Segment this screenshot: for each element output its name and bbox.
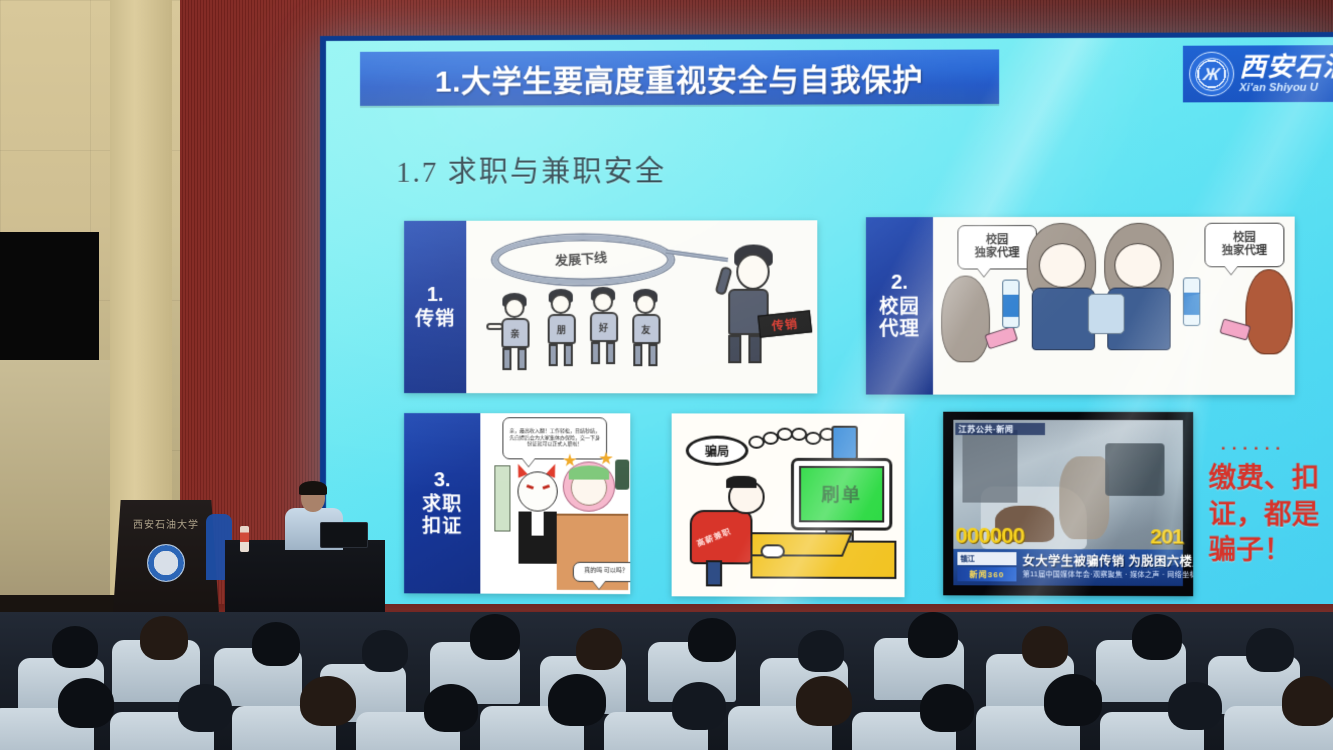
panel-order-brushing-scam: 骗局 刷单: [672, 413, 905, 597]
callout-line-2: 证，都是: [1209, 497, 1333, 533]
projection-screen: 1.大学生要高度重视安全与自我保护 Ж 西安石油 Xi'an Shiyou U …: [320, 32, 1333, 618]
bubble-left-line2: 独家代理: [975, 247, 1020, 260]
bubble-right-line2: 独家代理: [1222, 245, 1267, 258]
news-overlay-right: 201: [1150, 525, 1183, 549]
agent-dress-1: [1032, 288, 1095, 351]
rope: [666, 249, 729, 262]
panel-1-caption: 传销: [415, 309, 455, 330]
university-logo: Ж 西安石油 Xi'an Shiyou U: [1183, 45, 1333, 102]
callout-warning-text: 缴费、扣 证，都是 骗子！: [1209, 461, 1333, 570]
panel-1-label: 1. 传销: [404, 221, 466, 393]
panel-3-number: 3.: [434, 469, 451, 491]
victim-hair: [726, 476, 756, 488]
news-subline: 第11届中国媒体年会·观察聚焦 · 媒体之声 · 网络坐标: [1023, 569, 1180, 580]
panel-news-clip: 江苏公共·新闻 000000 201 镇江 新闻360 女大学生被骗传销 为脱困…: [943, 412, 1193, 596]
audience-head: [252, 622, 300, 666]
slide-subtitle: 1.7 求职与兼职安全: [396, 148, 666, 191]
audience-head: [576, 628, 622, 670]
panel-3-label: 3. 求职 扣证: [404, 413, 480, 593]
presenter-hair: [299, 481, 327, 495]
audience-head: [424, 684, 478, 732]
panel-2-label: 2. 校园 代理: [866, 217, 933, 394]
panel-1-number: 1.: [427, 284, 444, 306]
lectern: 西安石油大学: [112, 500, 220, 628]
slide-title-bar: 1.大学生要高度重视安全与自我保护: [360, 49, 999, 105]
audience-head: [52, 626, 98, 668]
student-reply-bubble: 真的吗 可以吗？: [573, 562, 630, 582]
panel-3-artwork: 亲，最高收入翻！工作轻松，日结秒结，先白嫖后会为大家集体办保险，交一下身份证就可…: [480, 413, 630, 594]
seal-mark: Ж: [1202, 65, 1221, 82]
bubble-left-line1: 校园: [986, 234, 1008, 247]
audience-area: [0, 612, 1333, 750]
recruiting-sign: [494, 465, 510, 531]
shirt-label-3: 好: [599, 321, 608, 334]
audience-head: [548, 674, 606, 726]
audience-head: [470, 614, 520, 660]
news-location-chip: 镇江: [957, 552, 1016, 565]
monitor-screen: 刷单: [799, 466, 884, 523]
water-bottle: [240, 526, 249, 552]
wall-dark-recess: [0, 232, 99, 360]
panel-2-number: 2.: [891, 272, 908, 295]
lectern-seal-icon: [147, 544, 185, 582]
university-seal-icon: Ж: [1189, 52, 1234, 97]
university-name-en: Xi'an Shiyou U: [1239, 83, 1333, 95]
callout-line-3: 骗子！: [1209, 533, 1333, 570]
student-figure-right: [1245, 269, 1292, 354]
audience-head: [140, 616, 188, 660]
student-figure-left: [941, 276, 990, 363]
audience-head: [1132, 614, 1182, 660]
callout-line-1: 缴费、扣: [1209, 461, 1333, 497]
panel-campus-agent: 2. 校园 代理 校园 独家代理 校园 独家代理: [866, 217, 1295, 395]
audience-head: [58, 678, 114, 728]
audience-head: [688, 618, 736, 662]
pyramid-banner: 传销: [758, 310, 813, 337]
bottle-1: [1002, 280, 1019, 328]
agent-face-2: [1114, 243, 1161, 288]
lasso-label: 发展下线: [554, 247, 608, 270]
trap-loop: 骗局: [686, 436, 749, 466]
university-name-cn: 西安石油: [1239, 53, 1333, 80]
presentation-slide: 1.大学生要高度重视安全与自我保护 Ж 西安石油 Xi'an Shiyou U …: [326, 37, 1333, 614]
shoulder-bag: [1088, 294, 1125, 334]
panel-1-artwork: 发展下线 亲: [466, 220, 817, 393]
monitor-label: 刷单: [821, 481, 862, 507]
audience-head: [300, 676, 356, 726]
news-program-logo: 新闻360: [957, 567, 1016, 581]
callout-dots: ······: [1221, 438, 1287, 458]
audience-head: [1282, 676, 1333, 726]
presenter-laptop: [320, 522, 368, 548]
panel-pyramid-scheme: 1. 传销 发展下线 亲: [404, 220, 817, 393]
agent-face-1: [1039, 243, 1086, 287]
university-logo-words: 西安石油 Xi'an Shiyou U: [1239, 53, 1333, 94]
news-channel-tag: 江苏公共·新闻: [955, 423, 1045, 435]
shirt-label-2: 朋: [557, 323, 566, 336]
plant-decor: [615, 460, 629, 490]
lecture-hall-photo: 1.大学生要高度重视安全与自我保护 Ж 西安石油 Xi'an Shiyou U …: [0, 0, 1333, 750]
recruiter-speech-bubble: 亲，最高收入翻！工作轻松，日结秒结，先白嫖后会为大家集体办保险，交一下身份证就可…: [502, 417, 607, 459]
panel-2-artwork: 校园 独家代理 校园 独家代理: [933, 217, 1295, 395]
news-overlay-left: 000000: [955, 523, 1024, 549]
lectern-text: 西安石油大学: [133, 516, 199, 531]
panel-3-caption-line2: 扣证: [422, 516, 462, 537]
audience-head: [1168, 682, 1222, 730]
news-headline: 女大学生被骗传销 为脱困六楼坠地: [1023, 552, 1180, 570]
monitor-frame: 刷单: [791, 458, 892, 531]
hand-holder: [831, 426, 857, 460]
audience-head: [1044, 674, 1102, 726]
panel-job-id-withholding: 3. 求职 扣证 亲，最高收入翻！工作轻松，日结秒结，先白嫖后会为大家集体办保险…: [404, 413, 630, 594]
panel-4-artwork: 骗局 刷单: [672, 413, 905, 597]
trap-label: 骗局: [705, 442, 729, 459]
audience-head: [796, 676, 852, 726]
panel-2-caption-line2: 代理: [879, 319, 920, 340]
audience-head: [672, 682, 726, 730]
student-cap-3: [569, 465, 609, 479]
audience-head: [798, 630, 844, 672]
bubble-right-line1: 校园: [1233, 232, 1256, 245]
bottle-2: [1183, 277, 1200, 326]
audience-head: [908, 612, 958, 658]
speech-bubble-left: 校园 独家代理: [957, 225, 1036, 269]
news-lower-third: 镇江 新闻360 女大学生被骗传销 为脱困六楼坠地 第11届中国媒体年会·观察聚…: [953, 549, 1183, 586]
slide-title: 1.大学生要高度重视安全与自我保护: [435, 55, 923, 101]
speech-bubble-right: 校园 独家代理: [1204, 223, 1284, 268]
panel-3-caption-line1: 求职: [422, 495, 462, 516]
shirt-label-1: 亲: [510, 327, 519, 340]
audience-head: [920, 684, 974, 732]
audience-head: [1022, 626, 1068, 668]
panel-2-caption-line1: 校园: [879, 297, 920, 318]
victim-leg: [706, 560, 722, 586]
audience-head: [178, 684, 232, 732]
shirt-label-4: 友: [641, 323, 650, 336]
audience-head: [1246, 628, 1294, 672]
audience-head: [362, 630, 408, 672]
mouse: [761, 544, 785, 558]
